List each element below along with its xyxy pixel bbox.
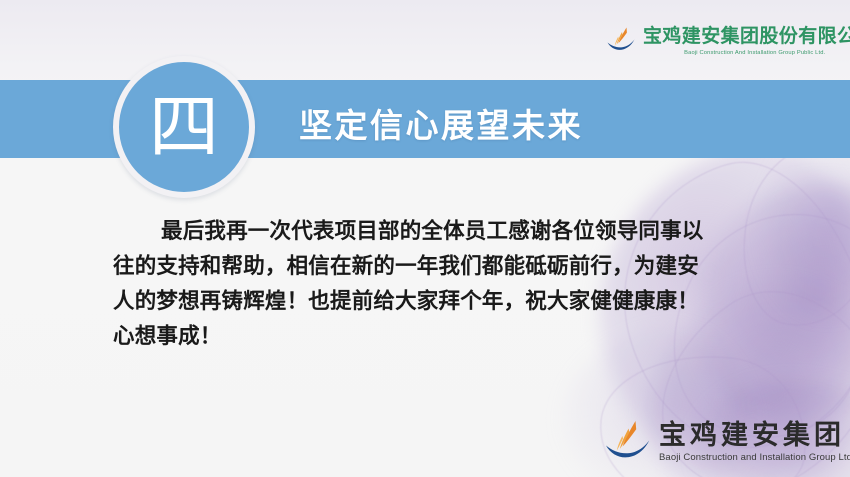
company-name-en: Baoji Construction And Installation Grou… [643, 50, 850, 56]
section-number-badge: 四 [113, 56, 255, 198]
section-title: 坚定信心展望未来 [299, 99, 583, 147]
section-number-text: 四 [149, 92, 219, 162]
company-logo-header: 宝鸡建安集团股份有限公司 Baoji Construction And Inst… [606, 26, 850, 57]
sail-flame-logo-icon [606, 26, 636, 57]
company-logo-footer: 宝鸡建安集团 Baoji Construction and Installati… [604, 419, 850, 466]
body-line: 人的梦想再铸辉煌！也提前给大家拜个年，祝大家健健康康！ [113, 284, 713, 319]
flower-petal-outline [730, 130, 850, 336]
sail-flame-logo-icon [604, 419, 650, 466]
body-line: 最后我再一次代表项目部的全体员工感谢各位领导同事以 [113, 214, 713, 249]
company-name-cn: 宝鸡建安集团股份有限公司 [643, 27, 850, 46]
body-paragraph: 最后我再一次代表项目部的全体员工感谢各位领导同事以 往的支持和帮助，相信在新的一… [113, 214, 713, 354]
body-line: 往的支持和帮助，相信在新的一年我们都能砥砺前行，为建安 [113, 249, 713, 284]
brand-name-en: Baoji Construction and Installation Grou… [659, 453, 850, 463]
body-line: 心想事成！ [113, 319, 713, 354]
presentation-slide: 宝鸡建安集团股份有限公司 Baoji Construction And Inst… [0, 0, 850, 477]
brand-name-cn: 宝鸡建安集团 [659, 422, 850, 449]
